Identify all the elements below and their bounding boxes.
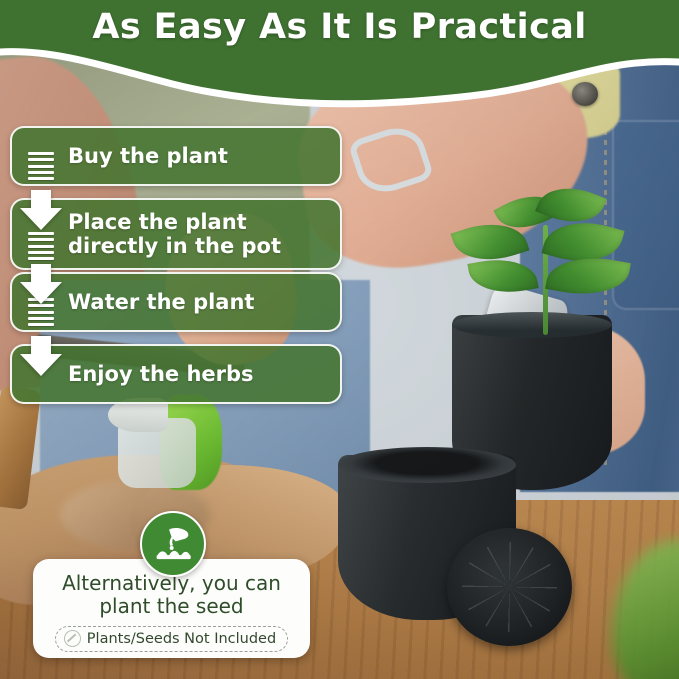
down-arrow-icon [20,336,62,376]
step-card-1[interactable]: Buy the plant [10,126,342,186]
step-label-2: Place the plant directly in the pot [68,210,340,259]
product-infographic: As Easy As It Is Practical Buy the plant… [0,0,679,679]
alternative-text: Alternatively, you can plant the seed [47,572,297,617]
hand-planting-seed-icon [140,511,206,577]
stacked-bars-icon [28,232,54,260]
page-title: As Easy As It Is Practical [0,7,679,47]
not-included-icon [64,630,81,647]
down-arrow-icon [20,190,62,230]
not-included-badge: Plants/Seeds Not Included [55,626,288,652]
step-label-3: Water the plant [68,290,266,314]
stacked-bars-icon [28,152,54,180]
down-arrow-icon [20,264,62,304]
step-label-4: Enjoy the herbs [68,362,266,386]
not-included-label: Plants/Seeds Not Included [87,631,276,647]
step-label-1: Buy the plant [68,144,240,168]
